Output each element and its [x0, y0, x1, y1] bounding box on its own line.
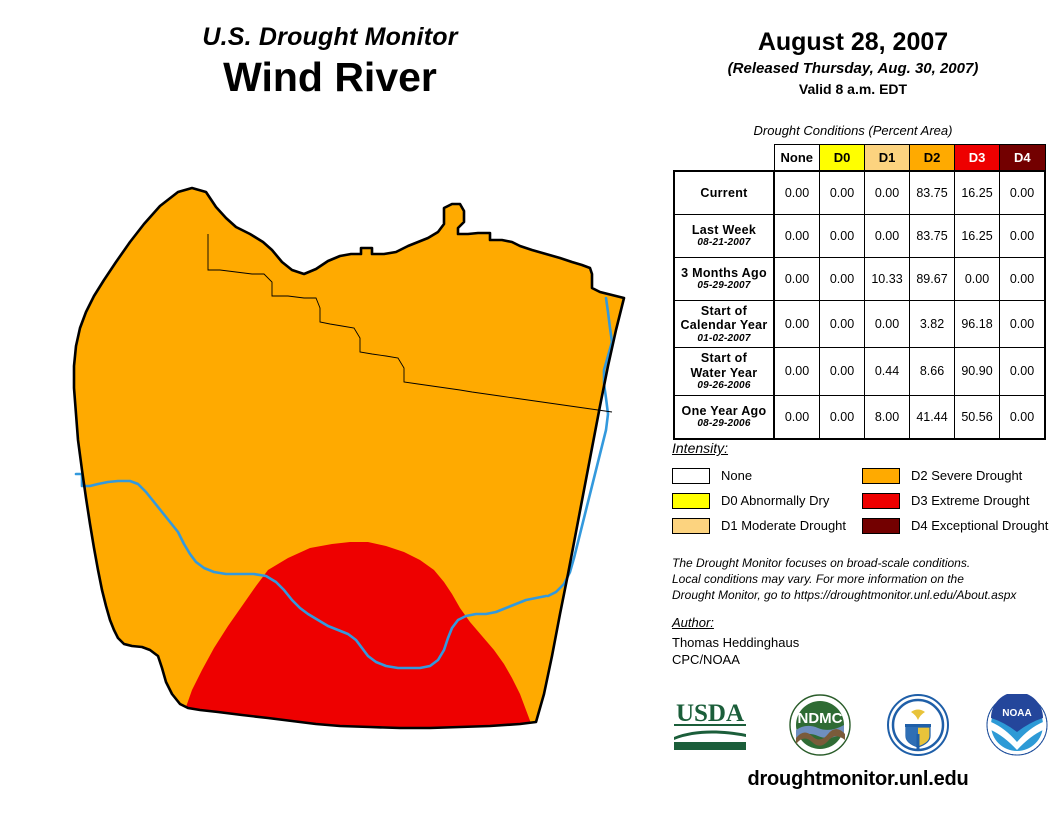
value-cell-none: 0.00 — [774, 258, 820, 301]
value-cell-none: 0.00 — [774, 215, 820, 258]
value-cell-d0: 0.00 — [820, 395, 865, 439]
value-cell-d1: 0.44 — [865, 348, 910, 395]
legend-label: D3 Extreme Drought — [911, 494, 1030, 507]
legend-label: D0 Abnormally Dry — [721, 494, 829, 507]
table-row: Last Week08-21-20070.000.000.0083.7516.2… — [674, 215, 1045, 258]
column-header-d0: D0 — [820, 145, 865, 172]
value-cell-none: 0.00 — [774, 395, 820, 439]
legend-swatch — [672, 518, 710, 534]
value-cell-d2: 89.67 — [910, 258, 955, 301]
legend-item: None — [672, 463, 862, 488]
legend-item: D3 Extreme Drought — [862, 488, 1052, 513]
column-header-d2: D2 — [910, 145, 955, 172]
ndmc-logo: NDMC — [789, 694, 851, 761]
author-affiliation: CPC/NOAA — [672, 651, 1042, 669]
row-label-cell: Start ofWater Year09-26-2006 — [674, 348, 774, 395]
value-cell-none: 0.00 — [774, 301, 820, 348]
noaa-logo-text: NOAA — [1002, 708, 1031, 719]
region-title: Wind River — [0, 54, 660, 101]
table-corner-cell — [674, 145, 774, 172]
table-header-row: None D0 D1 D2 D3 D4 — [674, 145, 1045, 172]
table-row: One Year Ago08-29-20060.000.008.0041.445… — [674, 395, 1045, 439]
value-cell-d1: 0.00 — [865, 215, 910, 258]
drought-conditions-table-wrap: None D0 D1 D2 D3 D4 Current0.000.000.008… — [673, 144, 1046, 440]
row-label-text: One Year Ago — [677, 404, 771, 418]
row-label-text: Calendar Year — [677, 318, 771, 332]
legend-swatch — [862, 518, 900, 534]
disclaimer-note: The Drought Monitor focuses on broad-sca… — [672, 555, 1042, 604]
table-row: Start ofCalendar Year01-02-20070.000.000… — [674, 301, 1045, 348]
map-fill-group — [20, 170, 650, 730]
value-cell-d4: 0.00 — [1000, 301, 1046, 348]
row-label-date: 05-29-2007 — [677, 280, 771, 292]
disclaimer-line-1: The Drought Monitor focuses on broad-sca… — [672, 555, 1042, 571]
value-cell-d4: 0.00 — [1000, 258, 1046, 301]
row-label-cell: 3 Months Ago05-29-2007 — [674, 258, 774, 301]
value-cell-d2: 83.75 — [910, 171, 955, 215]
row-label-cell: Last Week08-21-2007 — [674, 215, 774, 258]
row-label-date: 08-21-2007 — [677, 237, 771, 249]
legend-swatch — [862, 493, 900, 509]
row-label-cell: One Year Ago08-29-2006 — [674, 395, 774, 439]
value-cell-d1: 0.00 — [865, 301, 910, 348]
value-cell-d2: 8.66 — [910, 348, 955, 395]
intensity-legend-title: Intensity: — [672, 440, 1042, 456]
value-cell-d3: 90.90 — [955, 348, 1000, 395]
value-cell-d0: 0.00 — [820, 171, 865, 215]
usda-logo: USDA — [668, 697, 752, 758]
table-row: Current0.000.000.0083.7516.250.00 — [674, 171, 1045, 215]
row-label-date: 09-26-2006 — [677, 380, 771, 392]
table-caption: Drought Conditions (Percent Area) — [672, 123, 1034, 138]
row-label-text: Water Year — [677, 366, 771, 380]
table-row: Start ofWater Year09-26-20060.000.000.44… — [674, 348, 1045, 395]
legend-swatch — [672, 468, 710, 484]
valid-date: August 28, 2007 — [672, 28, 1034, 57]
drought-map[interactable] — [20, 170, 650, 730]
value-cell-d2: 3.82 — [910, 301, 955, 348]
logo-row: USDA NDMC — [668, 692, 1048, 762]
legend-label: D4 Exceptional Drought — [911, 519, 1048, 532]
value-cell-d3: 16.25 — [955, 171, 1000, 215]
row-label-text: 3 Months Ago — [677, 266, 771, 280]
value-cell-d1: 8.00 — [865, 395, 910, 439]
value-cell-none: 0.00 — [774, 348, 820, 395]
value-cell-d4: 0.00 — [1000, 348, 1046, 395]
legend-item: D2 Severe Drought — [862, 463, 1052, 488]
drought-conditions-table: None D0 D1 D2 D3 D4 Current0.000.000.008… — [673, 144, 1046, 440]
row-label-text: Current — [677, 186, 771, 200]
value-cell-d3: 96.18 — [955, 301, 1000, 348]
site-url[interactable]: droughtmonitor.unl.edu — [668, 768, 1048, 791]
row-label-text: Last Week — [677, 223, 771, 237]
author-label: Author: — [672, 614, 1042, 632]
legend-label: D2 Severe Drought — [911, 469, 1022, 482]
legend-item: D0 Abnormally Dry — [672, 488, 862, 513]
value-cell-d0: 0.00 — [820, 301, 865, 348]
noaa-logo: NOAA — [986, 694, 1048, 761]
table-head: None D0 D1 D2 D3 D4 — [674, 145, 1045, 172]
legend-item: D4 Exceptional Drought — [862, 513, 1052, 538]
ndmc-logo-text: NDMC — [797, 710, 842, 727]
row-label-text: Start of — [677, 351, 771, 365]
column-header-d4: D4 — [1000, 145, 1046, 172]
value-cell-d0: 0.00 — [820, 348, 865, 395]
row-label-text: Start of — [677, 304, 771, 318]
table-row: 3 Months Ago05-29-20070.000.0010.3389.67… — [674, 258, 1045, 301]
row-label-cell: Start ofCalendar Year01-02-2007 — [674, 301, 774, 348]
date-block: August 28, 2007 (Released Thursday, Aug.… — [672, 28, 1034, 98]
valid-time: Valid 8 a.m. EDT — [672, 81, 1034, 98]
value-cell-d3: 16.25 — [955, 215, 1000, 258]
value-cell-d3: 0.00 — [955, 258, 1000, 301]
table-body: Current0.000.000.0083.7516.250.00Last We… — [674, 171, 1045, 439]
value-cell-d1: 10.33 — [865, 258, 910, 301]
usdc-seal-logo — [887, 694, 949, 761]
value-cell-d4: 0.00 — [1000, 215, 1046, 258]
row-label-date: 01-02-2007 — [677, 333, 771, 345]
value-cell-d0: 0.00 — [820, 258, 865, 301]
value-cell-d2: 83.75 — [910, 215, 955, 258]
value-cell-d4: 0.00 — [1000, 171, 1046, 215]
value-cell-d1: 0.00 — [865, 171, 910, 215]
title-block: U.S. Drought Monitor Wind River — [0, 24, 660, 101]
program-title: U.S. Drought Monitor — [0, 24, 660, 52]
map-svg — [20, 170, 650, 730]
legend-label: None — [721, 469, 752, 482]
usda-logo-text: USDA — [676, 700, 744, 727]
row-label-cell: Current — [674, 171, 774, 215]
value-cell-d4: 0.00 — [1000, 395, 1046, 439]
value-cell-d2: 41.44 — [910, 395, 955, 439]
author-name: Thomas Heddinghaus — [672, 634, 1042, 652]
value-cell-d3: 50.56 — [955, 395, 1000, 439]
legend-label: D1 Moderate Drought — [721, 519, 846, 532]
legend-swatch — [672, 493, 710, 509]
column-header-d1: D1 — [865, 145, 910, 172]
value-cell-none: 0.00 — [774, 171, 820, 215]
intensity-legend: Intensity: NoneD2 Severe DroughtD0 Abnor… — [672, 440, 1042, 538]
release-date: (Released Thursday, Aug. 30, 2007) — [672, 60, 1034, 78]
row-label-date: 08-29-2006 — [677, 418, 771, 430]
value-cell-d0: 0.00 — [820, 215, 865, 258]
disclaimer-line-2: Local conditions may vary. For more info… — [672, 571, 1042, 587]
column-header-d3: D3 — [955, 145, 1000, 172]
intensity-legend-grid: NoneD2 Severe DroughtD0 Abnormally DryD3… — [672, 463, 1042, 538]
disclaimer-line-3: Drought Monitor, go to https://droughtmo… — [672, 587, 1042, 603]
column-header-none: None — [774, 145, 820, 172]
legend-swatch — [862, 468, 900, 484]
author-block: Author: Thomas Heddinghaus CPC/NOAA — [672, 614, 1042, 669]
legend-item: D1 Moderate Drought — [672, 513, 862, 538]
